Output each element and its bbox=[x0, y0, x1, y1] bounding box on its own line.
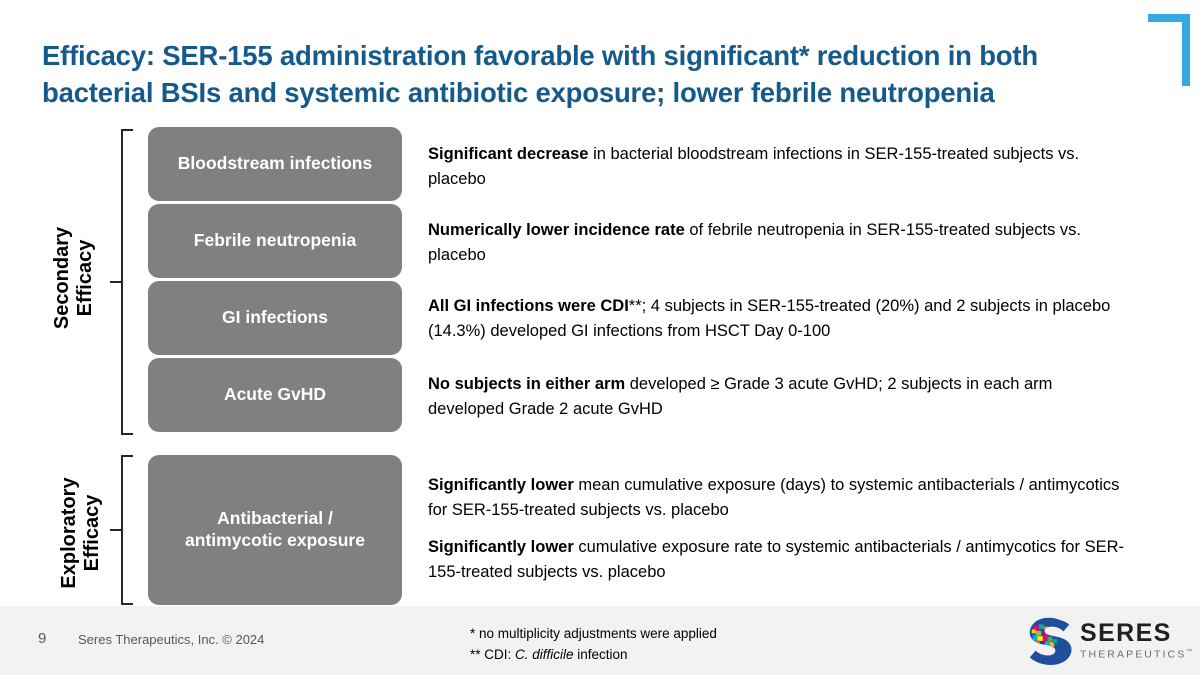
statement-lead: Significant decrease bbox=[428, 145, 588, 163]
page-number: 9 bbox=[38, 630, 46, 647]
category-box-bloodstream-infections: Bloodstream infections bbox=[148, 127, 402, 201]
seres-logo-tagline: THERAPEUTICS™ bbox=[1080, 649, 1192, 660]
statement-febrile-neutropenia: Numerically lower incidence rate of febr… bbox=[428, 218, 1128, 268]
statement-acute-gvhd: No subjects in either arm developed ≥ Gr… bbox=[428, 372, 1128, 422]
seres-logo: SERES THERAPEUTICS™ bbox=[1026, 616, 1176, 666]
category-box-antibacterial-antimycotic-exposure: Antibacterial / antimycotic exposure bbox=[148, 455, 402, 605]
footnotes: * no multiplicity adjustments were appli… bbox=[470, 624, 717, 666]
statement-lead: Significantly lower bbox=[428, 538, 574, 556]
brace-tab-middle bbox=[110, 281, 122, 283]
statement-gi-infections: All GI infections were CDI**; 4 subjects… bbox=[428, 294, 1128, 344]
footnote-multiplicity: * no multiplicity adjustments were appli… bbox=[470, 624, 717, 645]
footnote-cdi: ** CDI: C. difficile infection bbox=[470, 645, 717, 666]
brace-tab-bottom bbox=[121, 603, 133, 605]
seres-logo-wordmark: SERES THERAPEUTICS™ bbox=[1080, 621, 1192, 660]
seres-logo-trademark: ™ bbox=[1186, 649, 1192, 655]
corner-bracket-vertical-bar bbox=[1182, 14, 1190, 86]
brace-tab-top bbox=[121, 129, 133, 131]
statement-lead: Significantly lower bbox=[428, 476, 574, 494]
brace-tab-bottom bbox=[121, 433, 133, 435]
statement-lead: All GI infections were CDI bbox=[428, 297, 629, 315]
brace-tab-top bbox=[121, 455, 133, 457]
statement-lead: No subjects in either arm bbox=[428, 375, 625, 393]
category-box-gi-infections: GI infections bbox=[148, 281, 402, 355]
statement-lead: Numerically lower incidence rate bbox=[428, 221, 685, 239]
statement-exposure-days: Significantly lower mean cumulative expo… bbox=[428, 473, 1128, 523]
footnote-cdi-suffix: infection bbox=[574, 647, 628, 662]
seres-logo-mark-icon bbox=[1026, 617, 1074, 665]
brace-exploratory-efficacy bbox=[108, 455, 136, 605]
category-box-febrile-neutropenia: Febrile neutropenia bbox=[148, 204, 402, 278]
statement-exposure-rate: Significantly lower cumulative exposure … bbox=[428, 535, 1128, 585]
footnote-cdi-prefix: ** CDI: bbox=[470, 647, 515, 662]
brace-tab-middle bbox=[110, 529, 122, 531]
slide-title: Efficacy: SER-155 administration favorab… bbox=[42, 38, 1152, 111]
brace-secondary-efficacy bbox=[108, 129, 136, 435]
copyright-text: Seres Therapeutics, Inc. © 2024 bbox=[78, 632, 264, 647]
seres-logo-tagline-text: THERAPEUTICS bbox=[1080, 649, 1186, 661]
seres-logo-name: SERES bbox=[1080, 621, 1192, 646]
footnote-cdi-organism: C. difficile bbox=[515, 647, 574, 662]
category-box-acute-gvhd: Acute GvHD bbox=[148, 358, 402, 432]
slide-canvas: Efficacy: SER-155 administration favorab… bbox=[0, 0, 1200, 675]
statement-bloodstream-infections: Significant decrease in bacterial bloods… bbox=[428, 142, 1128, 192]
